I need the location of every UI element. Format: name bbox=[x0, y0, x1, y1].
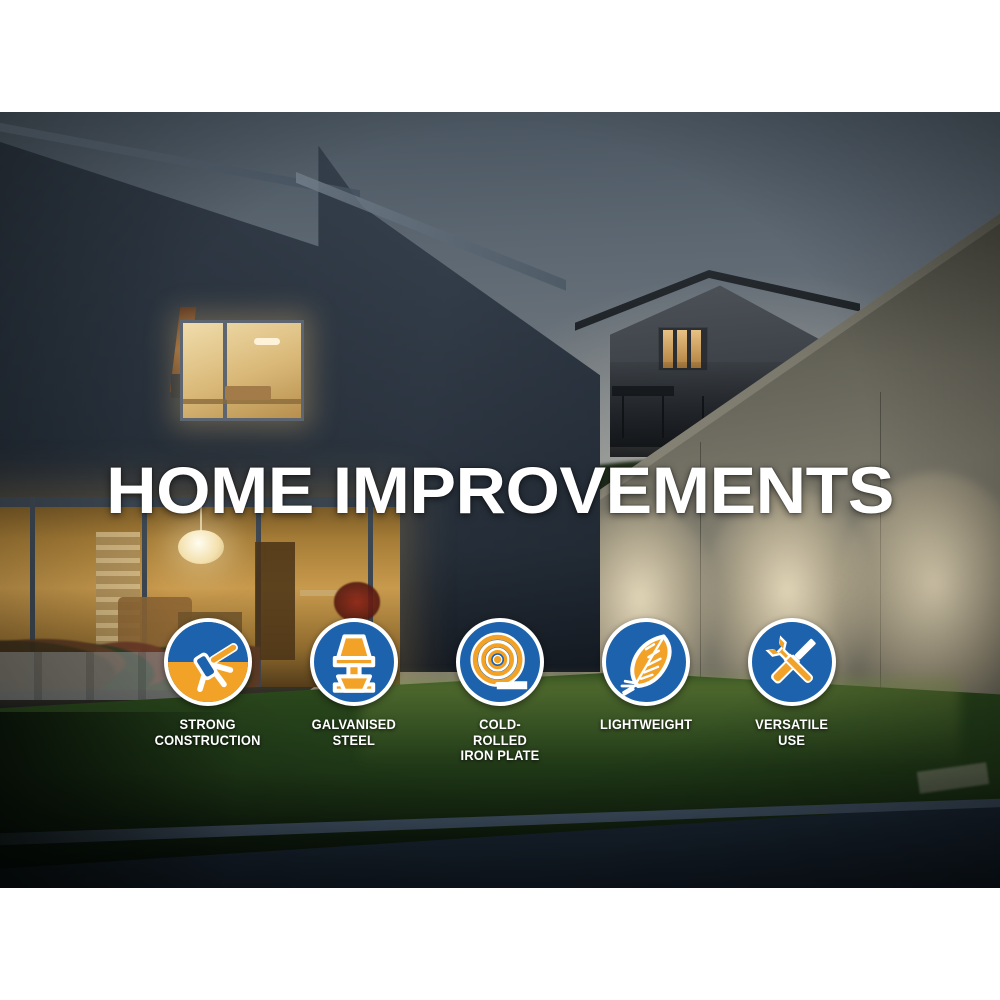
feature-label: GALVANISED STEEL bbox=[312, 717, 396, 748]
hammer-strike-icon bbox=[164, 618, 252, 706]
feature-versatile-use: VERSATILE USE bbox=[747, 618, 837, 748]
feature-lightweight: LIGHTWEIGHT bbox=[601, 618, 691, 733]
banner-canvas: HOME IMPROVEMENTS bbox=[0, 0, 1000, 1000]
feature-label: LIGHTWEIGHT bbox=[600, 717, 692, 733]
feature-galvanised-steel: GALVANISED STEEL bbox=[309, 618, 399, 748]
steel-coil-icon bbox=[456, 618, 544, 706]
screwdriver-wrench-icon bbox=[748, 618, 836, 706]
upper-lit-window bbox=[180, 320, 304, 421]
feather-icon bbox=[602, 618, 690, 706]
feature-label: COLD-ROLLED IRON PLATE bbox=[459, 717, 542, 764]
feature-strong-construction: STRONG CONSTRUCTION bbox=[163, 618, 253, 748]
page-title: HOME IMPROVEMENTS bbox=[0, 452, 1000, 528]
pendant-lamp bbox=[178, 530, 224, 564]
red-flowering-shrub bbox=[334, 582, 380, 622]
feature-badge-row: STRONG CONSTRUCTION GALVANISED STEEL bbox=[0, 618, 1000, 788]
feature-cold-rolled-iron-plate: COLD-ROLLED IRON PLATE bbox=[455, 618, 545, 764]
feature-label: VERSATILE USE bbox=[756, 717, 829, 748]
steel-beam-icon bbox=[310, 618, 398, 706]
feature-label: STRONG CONSTRUCTION bbox=[155, 717, 261, 748]
